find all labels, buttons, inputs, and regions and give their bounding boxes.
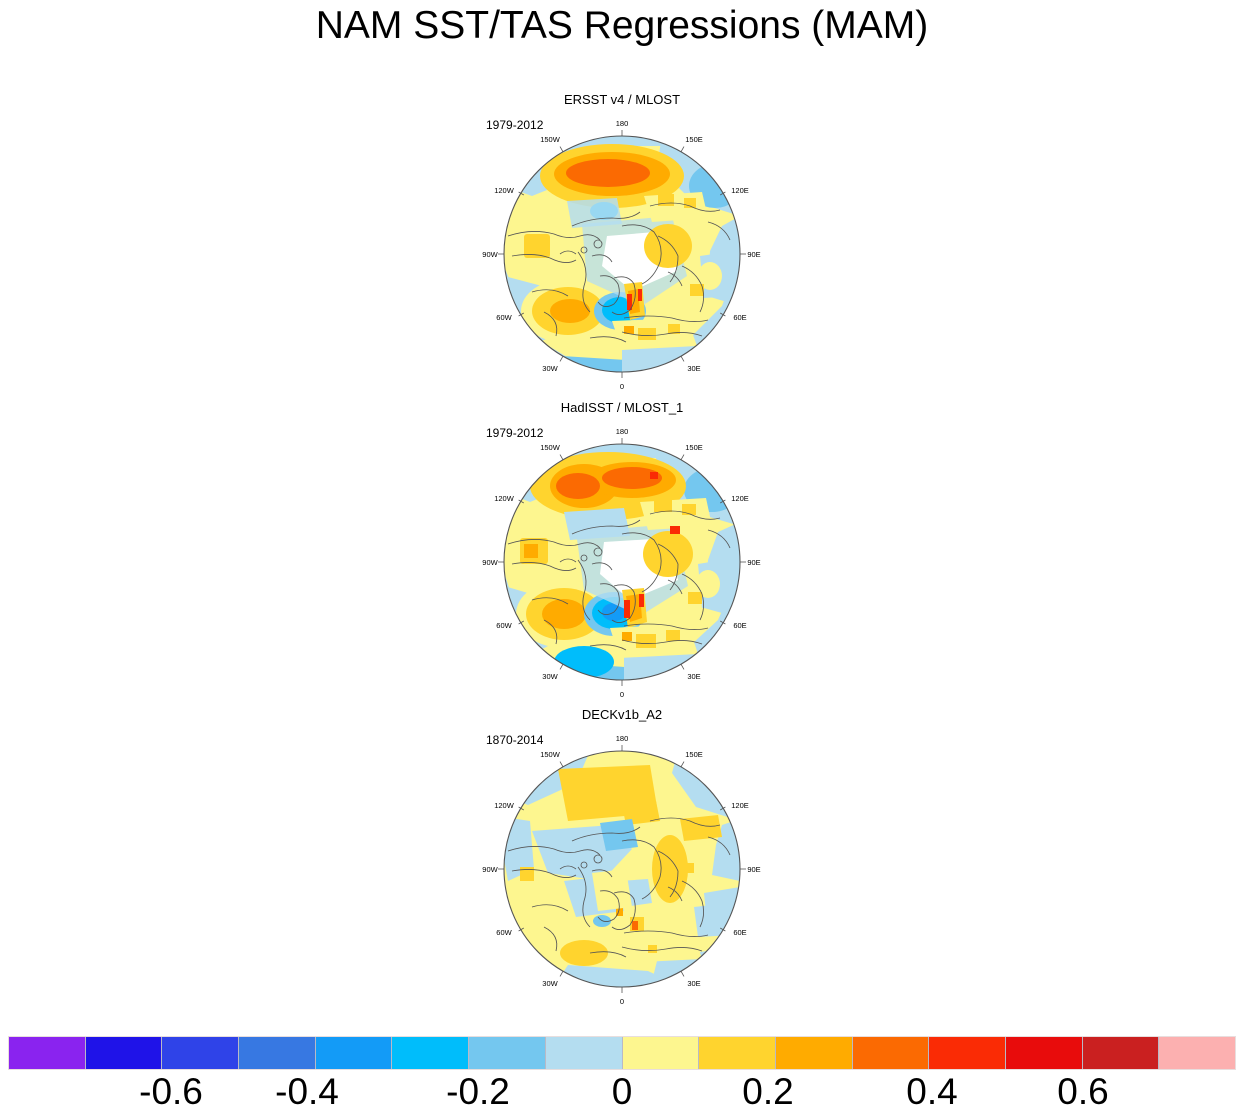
colorbar-tick-labels: -0.6-0.4-0.200.20.40.6 xyxy=(0,1072,1244,1116)
colorbar-swatch-14[interactable] xyxy=(1083,1037,1160,1069)
lon-label-150E: 150E xyxy=(685,135,703,144)
lon-label-90E: 90E xyxy=(747,250,760,259)
polar-map-hadisst[interactable]: 180 0 90W 90E 150W 150E 30W 30E 120W 120… xyxy=(472,414,772,704)
colorbar-tick-label: 0 xyxy=(612,1072,633,1112)
lon-label-30E: 30E xyxy=(687,979,700,988)
map-data-layer xyxy=(504,751,740,993)
lon-label-30W: 30W xyxy=(542,672,558,681)
colorbar-swatch-10[interactable] xyxy=(776,1037,853,1069)
lon-label-120E: 120E xyxy=(731,494,749,503)
polar-map-deck[interactable]: 180 0 90W 90E 150W 150E 30W 30E 120W 120… xyxy=(472,721,772,1011)
lon-label-150W: 150W xyxy=(540,443,561,452)
lon-label-120E: 120E xyxy=(731,186,749,195)
colorbar-swatch-2[interactable] xyxy=(162,1037,239,1069)
colorbar-swatch-8[interactable] xyxy=(623,1037,700,1069)
colorbar-tick-label: -0.4 xyxy=(275,1072,339,1112)
colorbar-tick-label: 0.2 xyxy=(742,1072,793,1112)
lon-label-60W: 60W xyxy=(496,928,512,937)
colorbar-swatch-4[interactable] xyxy=(316,1037,393,1069)
map-data-layer xyxy=(504,136,741,378)
lon-label-90W: 90W xyxy=(482,250,498,259)
colorbar-tick-label: -0.6 xyxy=(139,1072,203,1112)
colorbar-swatch-6[interactable] xyxy=(469,1037,546,1069)
colorbar-tick-label: -0.2 xyxy=(446,1072,510,1112)
lon-label-90W: 90W xyxy=(482,865,498,874)
colorbar-swatch-1[interactable] xyxy=(86,1037,163,1069)
lon-label-90E: 90E xyxy=(747,558,760,567)
lon-label-60E: 60E xyxy=(733,621,746,630)
lon-label-180: 180 xyxy=(616,427,629,436)
lon-label-60W: 60W xyxy=(496,313,512,322)
lon-label-120W: 120W xyxy=(494,186,515,195)
lon-label-150E: 150E xyxy=(685,750,703,759)
lon-label-180: 180 xyxy=(616,734,629,743)
lon-label-60W: 60W xyxy=(496,621,512,630)
lon-label-30W: 30W xyxy=(542,979,558,988)
lon-label-150W: 150W xyxy=(540,135,561,144)
lon-label-60E: 60E xyxy=(733,928,746,937)
lon-label-150W: 150W xyxy=(540,750,561,759)
figure-canvas: NAM SST/TAS Regressions (MAM) ERSST v4 /… xyxy=(0,0,1244,1116)
colorbar-swatch-7[interactable] xyxy=(546,1037,623,1069)
colorbar-tick-label: 0.4 xyxy=(906,1072,957,1112)
colorbar-swatch-5[interactable] xyxy=(392,1037,469,1069)
colorbar-swatch-3[interactable] xyxy=(239,1037,316,1069)
lon-label-0: 0 xyxy=(620,997,624,1006)
colorbar-tick-label: 0.6 xyxy=(1057,1072,1108,1112)
lon-label-150E: 150E xyxy=(685,443,703,452)
polar-map-ersst[interactable]: 180 0 90W 90E 150W 150E 30W 30E 120W 120… xyxy=(472,106,772,396)
lon-label-30E: 30E xyxy=(687,364,700,373)
lon-label-120W: 120W xyxy=(494,801,515,810)
lon-label-90E: 90E xyxy=(747,865,760,874)
colorbar-swatch-9[interactable] xyxy=(699,1037,776,1069)
lon-label-0: 0 xyxy=(620,382,624,391)
lon-label-30W: 30W xyxy=(542,364,558,373)
colorbar[interactable] xyxy=(8,1036,1236,1070)
panel-title: DECKv1b_A2 xyxy=(472,707,772,722)
colorbar-swatch-13[interactable] xyxy=(1006,1037,1083,1069)
map-data-layer xyxy=(504,444,740,688)
panel-title: HadISST / MLOST_1 xyxy=(472,400,772,415)
lon-label-0: 0 xyxy=(620,690,624,699)
colorbar-swatch-11[interactable] xyxy=(853,1037,930,1069)
lon-label-90W: 90W xyxy=(482,558,498,567)
panel-title: ERSST v4 / MLOST xyxy=(472,92,772,107)
colorbar-swatch-0[interactable] xyxy=(9,1037,86,1069)
lon-label-180: 180 xyxy=(616,119,629,128)
lon-label-120W: 120W xyxy=(494,494,515,503)
lon-label-120E: 120E xyxy=(731,801,749,810)
colorbar-swatch-12[interactable] xyxy=(929,1037,1006,1069)
colorbar-swatch-15[interactable] xyxy=(1159,1037,1235,1069)
lon-label-60E: 60E xyxy=(733,313,746,322)
lon-label-30E: 30E xyxy=(687,672,700,681)
figure-title: NAM SST/TAS Regressions (MAM) xyxy=(0,4,1244,48)
